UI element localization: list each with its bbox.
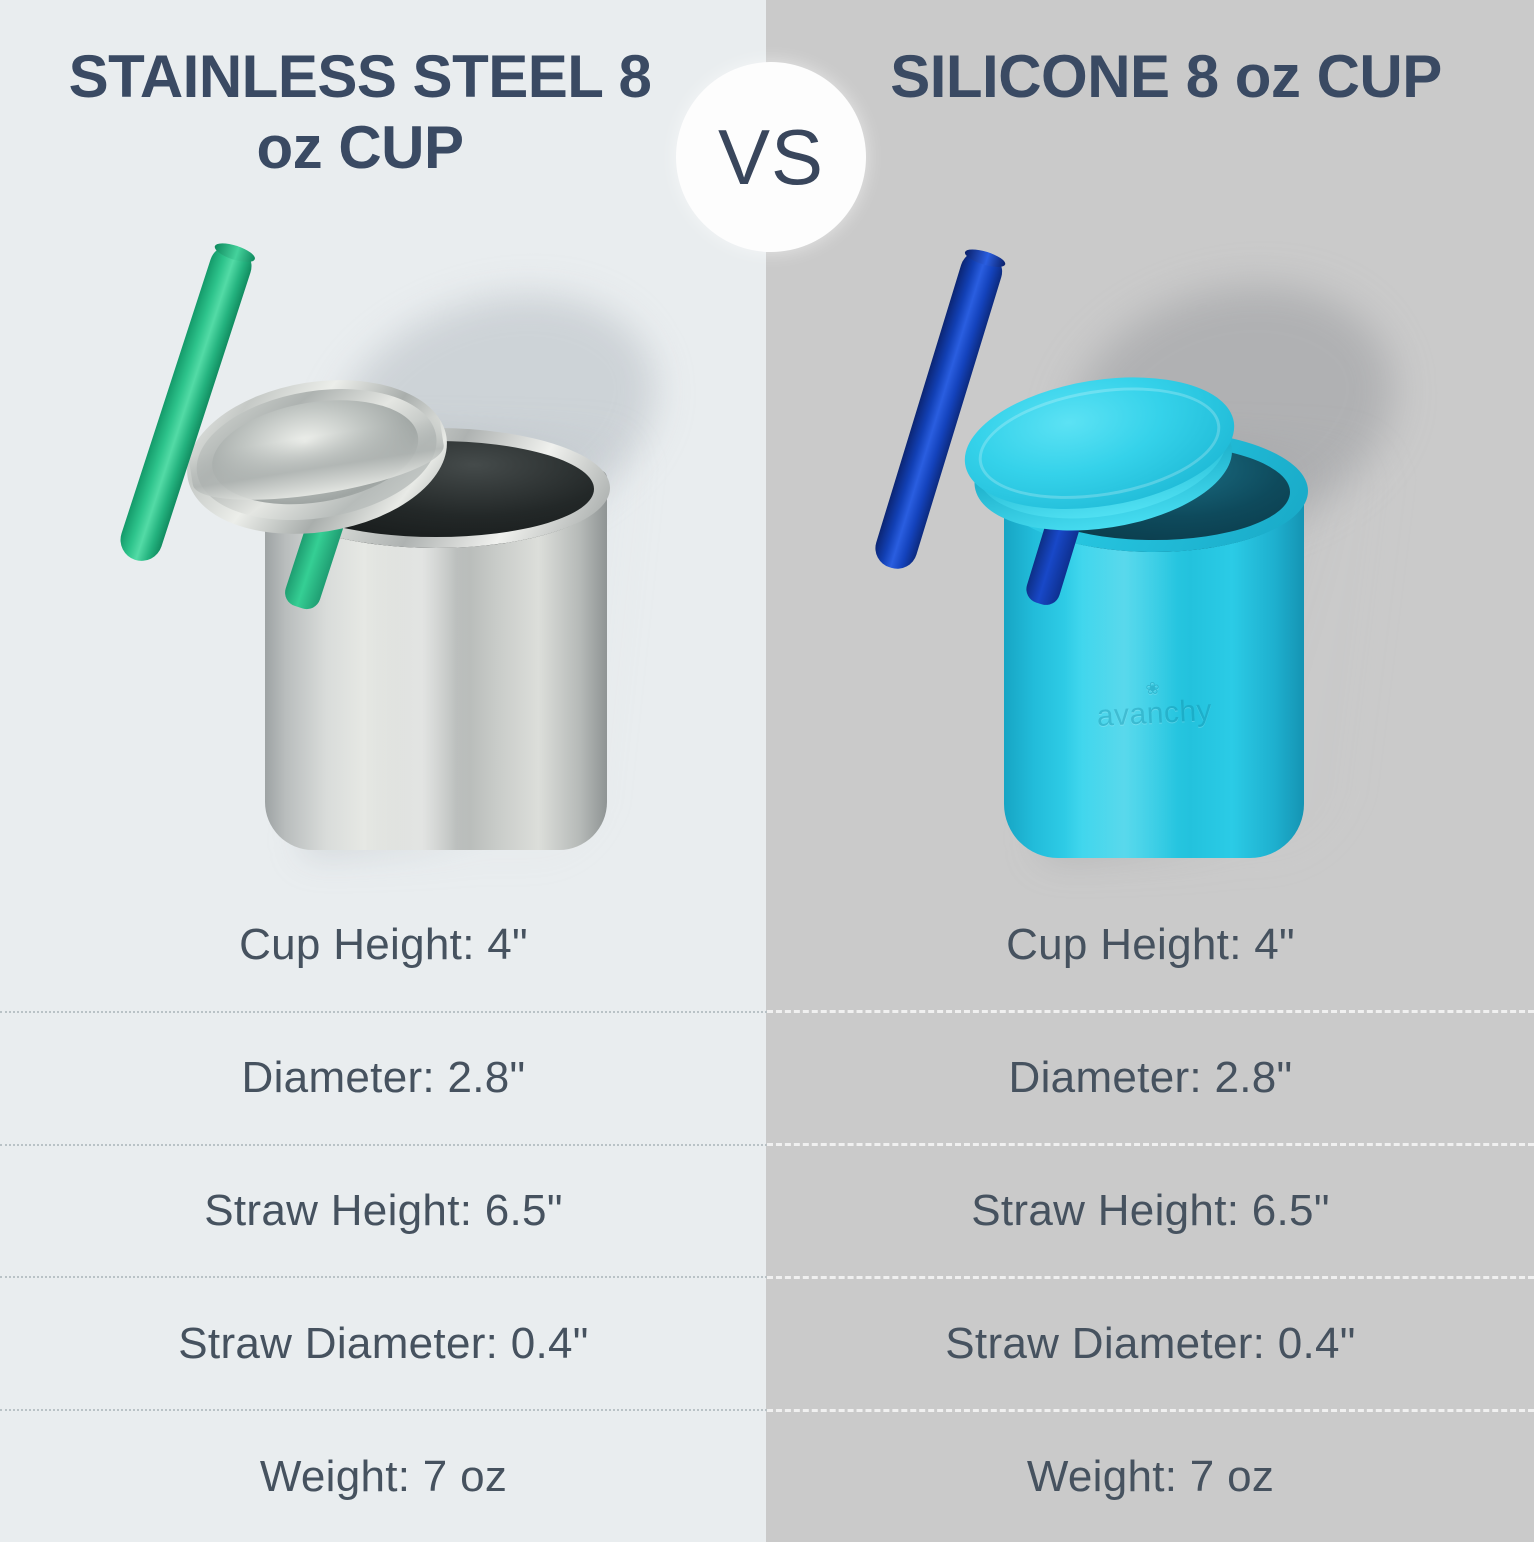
spec-row-straw-diameter: Straw Diameter: 0.4" — [0, 1276, 767, 1409]
stainless-steel-cup-illustration — [0, 0, 766, 880]
left-spec-column: Cup Height: 4" Diameter: 2.8" Straw Heig… — [0, 880, 767, 1542]
avanchy-brand-logo: ❀ avanchy — [1062, 665, 1245, 744]
vs-label: VS — [718, 112, 824, 203]
spec-row-straw-diameter: Straw Diameter: 0.4" — [767, 1276, 1534, 1409]
blue-straw-tip — [963, 246, 1007, 271]
right-product-stage: ❀ avanchy — [766, 0, 1534, 880]
brand-mark-icon: ❀ — [1145, 679, 1161, 697]
right-spec-column: Cup Height: 4" Diameter: 2.8" Straw Heig… — [767, 880, 1534, 1542]
green-straw-tip — [213, 240, 257, 266]
vs-badge: VS — [676, 62, 866, 252]
spec-row-cup-height: Cup Height: 4" — [767, 880, 1534, 1010]
spec-row-straw-height: Straw Height: 6.5" — [767, 1143, 1534, 1276]
spec-row-weight: Weight: 7 oz — [767, 1409, 1534, 1542]
spec-row-diameter: Diameter: 2.8" — [767, 1010, 1534, 1143]
left-product-stage — [0, 0, 766, 880]
spec-row-straw-height: Straw Height: 6.5" — [0, 1144, 767, 1277]
spec-row-diameter: Diameter: 2.8" — [0, 1011, 767, 1144]
silicone-cup-illustration: ❀ avanchy — [766, 0, 1534, 880]
brand-logo-text: avanchy — [1096, 693, 1213, 733]
spec-row-weight: Weight: 7 oz — [0, 1409, 767, 1542]
spec-comparison-table: Cup Height: 4" Diameter: 2.8" Straw Heig… — [0, 880, 1534, 1542]
spec-row-cup-height: Cup Height: 4" — [0, 880, 767, 1011]
